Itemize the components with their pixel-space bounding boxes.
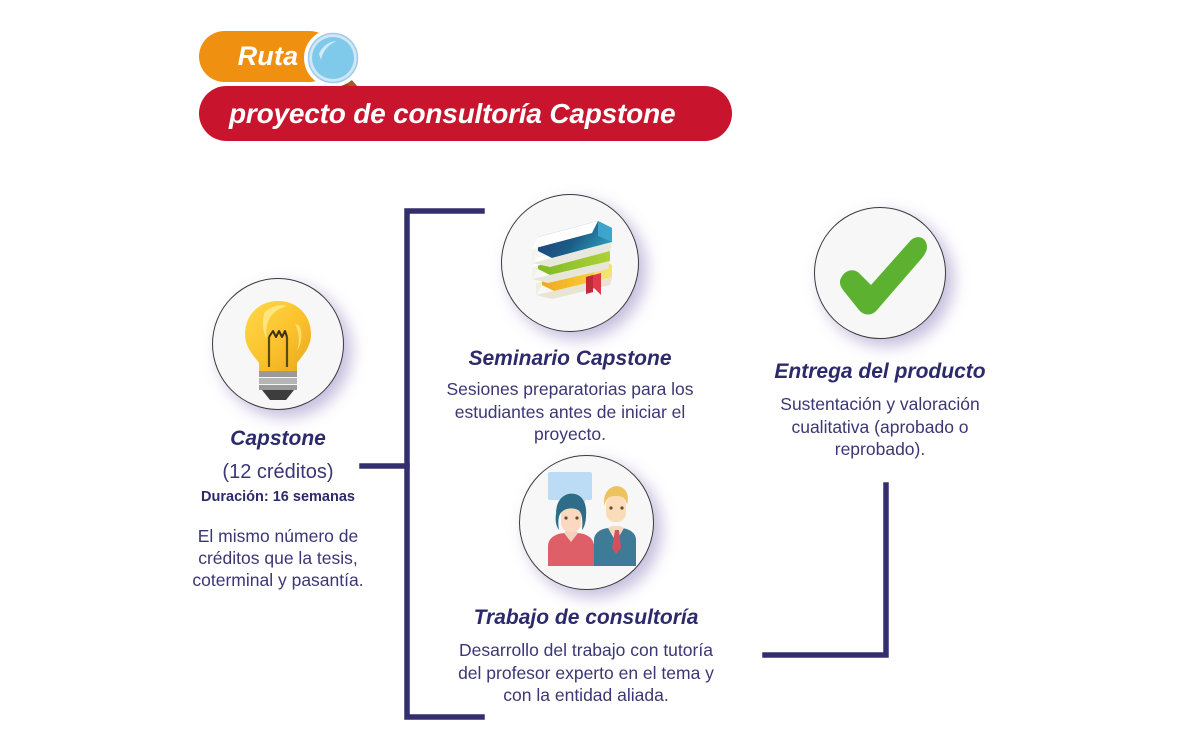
node-seminario-title: Seminario Capstone: [441, 346, 699, 371]
node-trabajo-consultoria[interactable]: Trabajo de consultoría Desarrollo del tr…: [450, 455, 722, 706]
books-stack-icon: [501, 194, 639, 332]
node-capstone-credits: (12 créditos): [178, 460, 378, 484]
node-trabajo-body: Desarrollo del trabajo con tutoría del p…: [450, 639, 722, 706]
node-trabajo-title: Trabajo de consultoría: [450, 605, 722, 630]
ruta-badge-label: Ruta: [236, 41, 299, 72]
node-capstone[interactable]: Capstone (12 créditos) Duración: 16 sema…: [178, 278, 378, 592]
node-capstone-title: Capstone: [178, 426, 378, 451]
node-capstone-body: El mismo número de créditos que la tesis…: [178, 525, 378, 592]
infographic-canvas: Ruta proyecto de consultoría Capstone: [0, 0, 1200, 739]
route-title-pill: proyecto de consultoría Capstone: [199, 86, 732, 141]
consulting-people-icon: [519, 455, 654, 590]
node-entrega-title: Entrega del producto: [760, 359, 1000, 384]
node-seminario-capstone[interactable]: Seminario Capstone Sesiones preparatoria…: [441, 194, 699, 445]
node-seminario-body: Sesiones preparatorias para los estudian…: [441, 378, 699, 445]
lightbulb-icon: [212, 278, 344, 410]
green-checkmark-icon: [814, 207, 946, 339]
page-title: proyecto de consultoría Capstone: [199, 98, 675, 130]
node-entrega-producto[interactable]: Entrega del producto Sustentación y valo…: [760, 207, 1000, 460]
node-capstone-duration: Duración: 16 semanas: [178, 488, 378, 506]
node-entrega-body: Sustentación y valoración cualitativa (a…: [760, 393, 1000, 460]
header: Ruta proyecto de consultoría Capstone: [190, 24, 750, 144]
